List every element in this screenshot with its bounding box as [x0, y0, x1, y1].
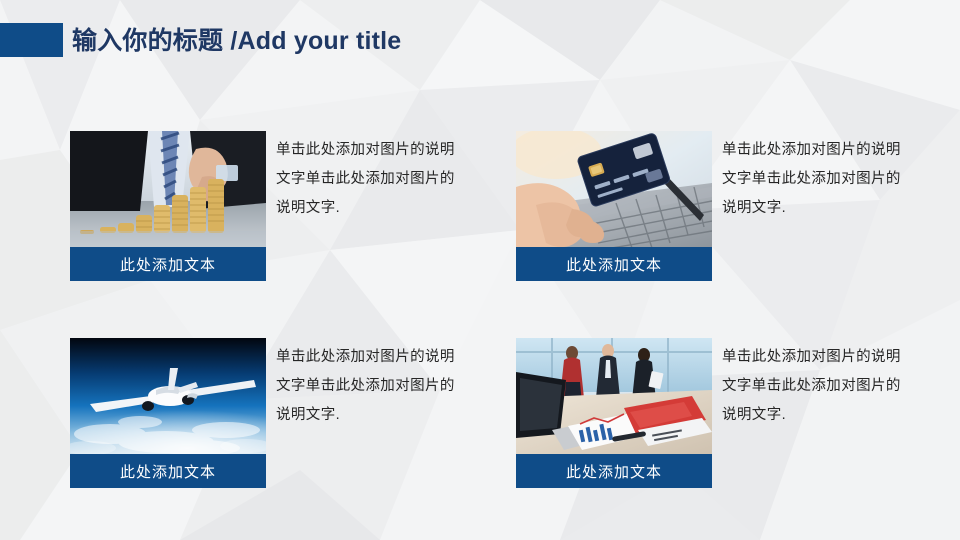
page-title-cn: 输入你的标题: [72, 27, 223, 55]
description-top-left: 单击此处添加对图片的说明文字单击此处添加对图片的说明文字.: [276, 136, 466, 223]
business-meeting-desk-photo[interactable]: [516, 338, 712, 455]
coins-stack-businessman-photo[interactable]: [70, 131, 266, 248]
page-title: 输入你的标题 /Add your title: [72, 22, 401, 60]
caption-bar-top-left[interactable]: 此处添加文本: [70, 247, 266, 281]
business-meeting-desk-image: [516, 338, 712, 455]
content-block-bottom-right[interactable]: 此处添加文本 单击此处添加对图片的说明文字单击此处添加对图片的说明文字.: [516, 338, 916, 488]
caption-bar-top-right[interactable]: 此处添加文本: [516, 247, 712, 281]
description-bottom-right: 单击此处添加对图片的说明文字单击此处添加对图片的说明文字.: [722, 343, 912, 430]
caption-label: 此处添加文本: [566, 461, 662, 482]
content-block-top-right[interactable]: 此处添加文本 单击此处添加对图片的说明文字单击此处添加对图片的说明文字.: [516, 131, 916, 281]
title-accent-chip: [0, 23, 63, 57]
title-accent-bar: [0, 23, 63, 57]
caption-bar-bottom-left[interactable]: 此处添加文本: [70, 454, 266, 488]
description-bottom-left: 单击此处添加对图片的说明文字单击此处添加对图片的说明文字.: [276, 343, 466, 430]
description-top-right: 单击此处添加对图片的说明文字单击此处添加对图片的说明文字.: [722, 136, 912, 223]
caption-bar-bottom-right[interactable]: 此处添加文本: [516, 454, 712, 488]
credit-card-laptop-photo[interactable]: [516, 131, 712, 248]
caption-label: 此处添加文本: [120, 254, 216, 275]
airplane-sky-photo[interactable]: [70, 338, 266, 455]
content-block-top-left[interactable]: 此处添加文本 单击此处添加对图片的说明文字单击此处添加对图片的说明文字.: [70, 131, 470, 281]
credit-card-laptop-image: [516, 131, 712, 248]
coins-stack-image: [70, 131, 266, 248]
caption-label: 此处添加文本: [120, 461, 216, 482]
slide-canvas: 输入你的标题 /Add your title: [0, 0, 960, 540]
page-title-en: /Add your title: [230, 27, 401, 55]
airplane-sky-image: [70, 338, 266, 455]
content-block-bottom-left[interactable]: 此处添加文本 单击此处添加对图片的说明文字单击此处添加对图片的说明文字.: [70, 338, 470, 488]
caption-label: 此处添加文本: [566, 254, 662, 275]
